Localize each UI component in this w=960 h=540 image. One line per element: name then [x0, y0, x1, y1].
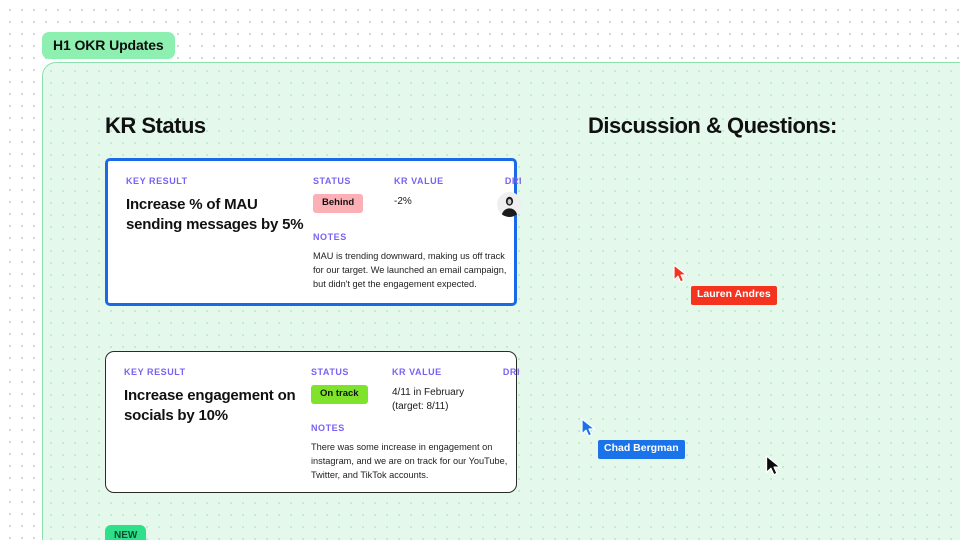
kr-card[interactable]: KEY RESULT Increase engagement on social…	[105, 351, 517, 493]
person-avatar-icon	[497, 192, 522, 217]
notes-text: There was some increase in engagement on…	[311, 441, 511, 483]
mouse-pointer-icon	[765, 455, 782, 478]
kr-value-label: KR VALUE	[394, 177, 484, 186]
status-column: STATUS Behind	[313, 177, 393, 213]
status-badge[interactable]: Behind	[313, 194, 363, 213]
key-result-text: Increase % of MAU sending messages by 5%	[126, 195, 316, 235]
notes-block: NOTES MAU is trending downward, making u…	[313, 233, 513, 292]
cursor-arrow-icon	[581, 418, 597, 438]
bottom-chip[interactable]: NEW	[105, 525, 146, 540]
kr-value-column: KR VALUE -2%	[394, 177, 484, 209]
kr-name-column: KEY RESULT Increase engagement on social…	[124, 368, 314, 426]
dri-column: DRI	[482, 177, 522, 217]
discussion-heading: Discussion & Questions:	[588, 113, 837, 139]
key-result-label: KEY RESULT	[124, 368, 314, 377]
status-column: STATUS On track	[311, 368, 391, 404]
notes-text: MAU is trending downward, making us off …	[313, 250, 513, 292]
kr-value-label: KR VALUE	[392, 368, 482, 377]
key-result-text: Increase engagement on socials by 10%	[124, 386, 314, 426]
cursor-arrow-icon	[673, 264, 689, 284]
avatar[interactable]	[497, 192, 522, 217]
status-label: STATUS	[313, 177, 393, 186]
dri-label: DRI	[482, 177, 522, 186]
collaborator-cursor-lauren: Lauren Andres	[673, 264, 777, 305]
kr-value-text: 4/11 in February (target: 8/11)	[392, 386, 482, 414]
collaborator-cursor-chad: Chad Bergman	[581, 418, 685, 459]
kr-value-column: KR VALUE 4/11 in February (target: 8/11)	[392, 368, 482, 414]
status-label: STATUS	[311, 368, 391, 377]
dri-label: DRI	[480, 368, 520, 377]
notes-label: NOTES	[311, 424, 511, 433]
dri-column: DRI	[480, 368, 520, 377]
notes-block: NOTES There was some increase in engagem…	[311, 424, 511, 483]
collaborator-name: Lauren Andres	[691, 286, 777, 305]
okr-frame[interactable]: KR Status KEY RESULT Increase % of MAU s…	[42, 62, 960, 540]
kr-card[interactable]: KEY RESULT Increase % of MAU sending mes…	[105, 158, 517, 306]
kr-status-heading: KR Status	[105, 113, 206, 139]
kr-name-column: KEY RESULT Increase % of MAU sending mes…	[126, 177, 316, 235]
key-result-label: KEY RESULT	[126, 177, 316, 186]
kr-value-text: -2%	[394, 195, 484, 209]
collaborator-name: Chad Bergman	[598, 440, 685, 459]
notes-label: NOTES	[313, 233, 513, 242]
section-tag[interactable]: H1 OKR Updates	[42, 32, 175, 59]
status-badge[interactable]: On track	[311, 385, 368, 404]
